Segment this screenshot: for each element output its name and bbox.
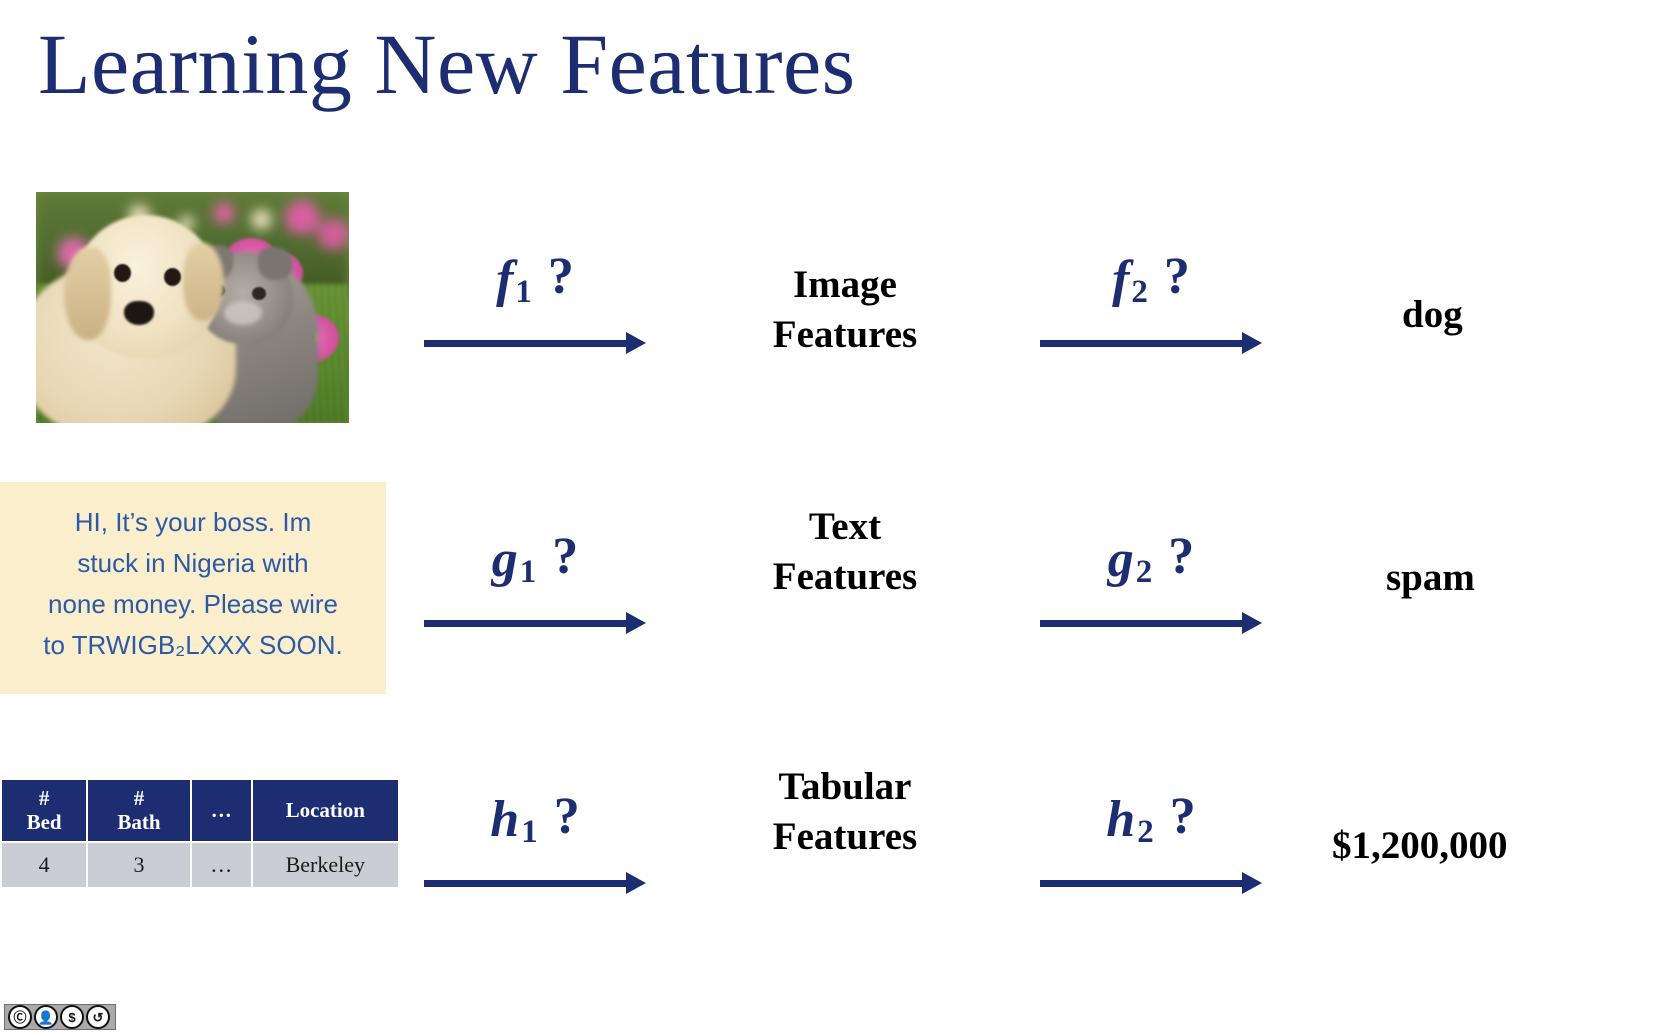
function-arrow-h2: h2? (1040, 755, 1262, 895)
header-word: … (211, 798, 232, 822)
pipeline-row-tabular: # Bed # Bath … Location (0, 730, 1665, 970)
features-line-2: Features (700, 552, 990, 602)
table-header-bath: # Bath (88, 780, 190, 841)
hash-symbol: # (6, 787, 82, 811)
cc-sa-icon: ↺ (86, 1005, 110, 1029)
function-name: g (1108, 531, 1134, 588)
features-line-1: Tabular (700, 762, 990, 812)
function-label-h1: h1? (490, 791, 579, 849)
cc-icon: Ⓒ (8, 1005, 32, 1029)
function-name: f (496, 251, 513, 308)
table-body: 4 3 … Berkeley (2, 843, 398, 887)
features-line-2: Features (700, 812, 990, 862)
table-header-bed: # Bed (2, 780, 86, 841)
table-header-row: # Bed # Bath … Location (2, 780, 398, 841)
table-row: 4 3 … Berkeley (2, 843, 398, 887)
question-mark: ? (532, 248, 574, 305)
table-header: # Bed # Bath … Location (2, 780, 398, 841)
cc-by-icon: 👤 (34, 1005, 58, 1029)
output-label-spam: spam (1386, 558, 1475, 597)
email-input-slot: HI, It’s your boss. Im stuck in Nigeria … (0, 460, 400, 700)
arrow-shaft (1040, 880, 1244, 887)
table-input-slot: # Bed # Bath … Location (0, 730, 400, 970)
page-title: Learning New Features (38, 18, 856, 111)
arrow-right-icon (424, 871, 646, 895)
header-word: Bed (27, 810, 62, 834)
email-line-3: none money. Please wire (0, 584, 386, 625)
function-subscript: 1 (518, 554, 537, 590)
table-header-location: Location (253, 780, 398, 841)
spam-email-box: HI, It’s your boss. Im stuck in Nigeria … (0, 482, 386, 694)
features-line-1: Text (700, 502, 990, 552)
function-name: h (1106, 791, 1135, 848)
question-mark: ? (538, 788, 580, 845)
pipeline-row-image: f1? Image Features f2? dog (0, 175, 1665, 415)
function-arrow-g2: g2? (1040, 495, 1262, 635)
arrow-head (1242, 872, 1262, 894)
email-line-2: stuck in Nigeria with (0, 543, 386, 584)
function-label-h2: h2? (1106, 791, 1195, 849)
function-name: g (492, 531, 518, 588)
arrow-shaft (424, 340, 628, 347)
cc-nc-icon: $ (60, 1005, 84, 1029)
function-arrow-f1: f1? (424, 215, 646, 355)
header-word: Location (286, 798, 365, 822)
function-arrow-g1: g1? (424, 495, 646, 635)
hash-symbol: # (92, 787, 186, 811)
arrow-head (626, 872, 646, 894)
function-subscript: 1 (513, 274, 532, 310)
header-word: Bath (117, 810, 160, 834)
email-line-4: to TRWIGB₂LXXX SOON. (0, 625, 386, 666)
arrow-shaft (1040, 620, 1244, 627)
question-mark: ? (1148, 248, 1190, 305)
arrow-shaft (424, 620, 628, 627)
puppy-ear-left (64, 247, 111, 339)
arrow-head (626, 332, 646, 354)
image-features-label: Image Features (700, 260, 990, 360)
features-line-1: Image (700, 260, 990, 310)
arrow-right-icon (1040, 331, 1262, 355)
text-features-label: Text Features (700, 502, 990, 602)
arrow-head (626, 612, 646, 634)
function-label-g1: g1? (492, 531, 579, 589)
arrow-head (1242, 332, 1262, 354)
puppy-kitten-photo (36, 192, 349, 423)
output-label-price: $1,200,000 (1332, 826, 1508, 865)
function-label-f1: f1? (496, 251, 574, 309)
function-subscript: 1 (519, 814, 538, 850)
email-line-1: HI, It’s your boss. Im (0, 502, 386, 543)
function-name: f (1112, 251, 1129, 308)
kitten-eye-right (252, 287, 266, 300)
kitten-muzzle (224, 301, 262, 325)
function-subscript: 2 (1134, 554, 1153, 590)
arrow-shaft (1040, 340, 1244, 347)
arrow-right-icon (1040, 611, 1262, 635)
table-header-ellipsis: … (192, 780, 251, 841)
function-label-f2: f2? (1112, 251, 1190, 309)
arrow-shaft (424, 880, 628, 887)
puppy-ear-right (183, 243, 224, 322)
features-line-2: Features (700, 310, 990, 360)
cell-bath: 3 (88, 843, 190, 887)
question-mark: ? (1154, 788, 1196, 845)
function-name: h (490, 791, 519, 848)
arrow-right-icon (424, 611, 646, 635)
arrow-right-icon (1040, 871, 1262, 895)
arrow-head (1242, 612, 1262, 634)
function-arrow-h1: h1? (424, 755, 646, 895)
cell-ellipsis: … (192, 843, 251, 887)
tabular-features-label: Tabular Features (700, 762, 990, 862)
function-subscript: 2 (1135, 814, 1154, 850)
function-arrow-f2: f2? (1040, 215, 1262, 355)
question-mark: ? (536, 528, 578, 585)
puppy-nose (124, 301, 154, 325)
image-input-slot (0, 175, 400, 415)
function-subscript: 2 (1129, 274, 1148, 310)
pipeline-row-text: HI, It’s your boss. Im stuck in Nigeria … (0, 460, 1665, 700)
creative-commons-license-badge[interactable]: Ⓒ 👤 $ ↺ (4, 1004, 116, 1030)
function-label-g2: g2? (1108, 531, 1195, 589)
puppy-eye-left (114, 264, 131, 282)
housing-table: # Bed # Bath … Location (0, 778, 400, 889)
question-mark: ? (1152, 528, 1194, 585)
arrow-right-icon (424, 331, 646, 355)
cell-bed: 4 (2, 843, 86, 887)
output-label-dog: dog (1402, 295, 1463, 334)
kitten-ear-right (258, 247, 292, 279)
cell-location: Berkeley (253, 843, 398, 887)
